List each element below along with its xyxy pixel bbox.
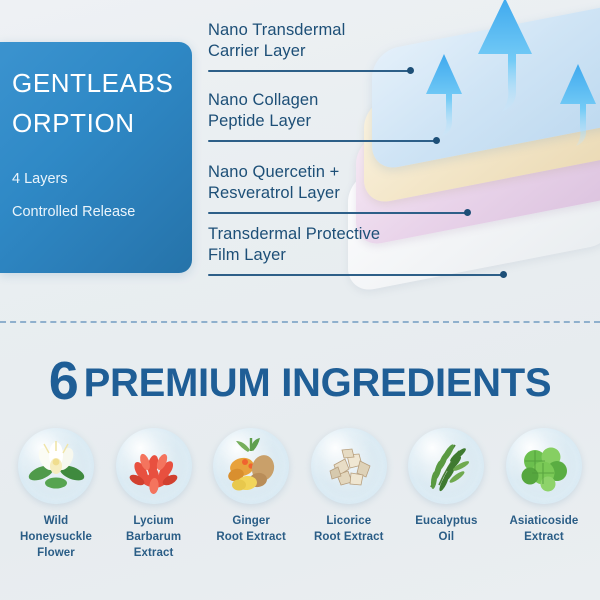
eucalyptus-leaf-icon: [408, 428, 484, 504]
list-item: Lycium Barbarum Extract: [106, 428, 202, 562]
list-item: Licorice Root Extract: [301, 428, 397, 562]
goji-berry-icon: [116, 428, 192, 504]
gotu-kola-leaf-icon: [506, 428, 582, 504]
callout-leader-line: [208, 70, 410, 72]
brand-panel: GENTLEABS ORPTION 4 Layers Controlled Re…: [0, 42, 192, 273]
ingredient-label: Licorice Root Extract: [314, 514, 384, 546]
callout-leader-line: [208, 274, 503, 276]
list-item: Eucalyptus Oil: [398, 428, 494, 562]
callout-leader-line: [208, 140, 436, 142]
callout-label: Nano Collagen Peptide Layer: [208, 90, 318, 132]
callout-label: Nano Quercetin + Resveratrol Layer: [208, 162, 340, 204]
callout-leader-dot: [407, 67, 414, 74]
list-item: Wild Honeysuckle Flower: [8, 428, 104, 562]
brand-subtitle-layers: 4 Layers: [12, 169, 192, 191]
ingredient-label: Lycium Barbarum Extract: [126, 514, 181, 562]
licorice-root-icon: [311, 428, 387, 504]
absorption-arrow-icon: [476, 0, 534, 114]
list-item: Asiaticoside Extract: [496, 428, 592, 562]
callout-leader-dot: [464, 209, 471, 216]
callout-leader-line: [208, 212, 467, 214]
section-divider: [0, 321, 600, 323]
absorption-arrow-icon: [424, 52, 464, 138]
ingredients-list: Wild Honeysuckle Flower: [0, 428, 600, 562]
callout-transdermal-protective-film-layer: Transdermal Protective Film Layer: [208, 224, 380, 266]
callout-leader-dot: [500, 271, 507, 278]
ingredient-label: Ginger Root Extract: [216, 514, 286, 546]
callout-label: Transdermal Protective Film Layer: [208, 224, 380, 266]
callout-leader-dot: [433, 137, 440, 144]
brand-title-line-1: GENTLEABS: [12, 64, 192, 104]
layer-diagram-section: GENTLEABS ORPTION 4 Layers Controlled Re…: [0, 0, 600, 322]
page-title: 6 PREMIUM INGREDIENTS: [0, 350, 600, 412]
headline-count: 6: [49, 351, 79, 411]
absorption-arrow-icon: [558, 62, 598, 148]
ginger-root-icon: [213, 428, 289, 504]
ingredients-section: 6 PREMIUM INGREDIENTS: [0, 324, 600, 600]
brand-title-line-2: ORPTION: [12, 104, 192, 144]
ingredient-label: Wild Honeysuckle Flower: [20, 514, 92, 562]
callout-label: Nano Transdermal Carrier Layer: [208, 20, 345, 62]
ingredient-label: Eucalyptus Oil: [415, 514, 477, 546]
list-item: Ginger Root Extract: [203, 428, 299, 562]
callout-nano-transdermal-carrier-layer: Nano Transdermal Carrier Layer: [208, 20, 345, 62]
honeysuckle-flower-icon: [18, 428, 94, 504]
headline-text: PREMIUM INGREDIENTS: [84, 361, 552, 405]
ingredient-label: Asiaticoside Extract: [509, 514, 578, 546]
infographic-root: GENTLEABS ORPTION 4 Layers Controlled Re…: [0, 0, 600, 600]
brand-subtitle-release: Controlled Release: [12, 202, 192, 224]
callout-nano-quercetin-resveratrol-layer: Nano Quercetin + Resveratrol Layer: [208, 162, 340, 204]
callout-nano-collagen-peptide-layer: Nano Collagen Peptide Layer: [208, 90, 318, 132]
